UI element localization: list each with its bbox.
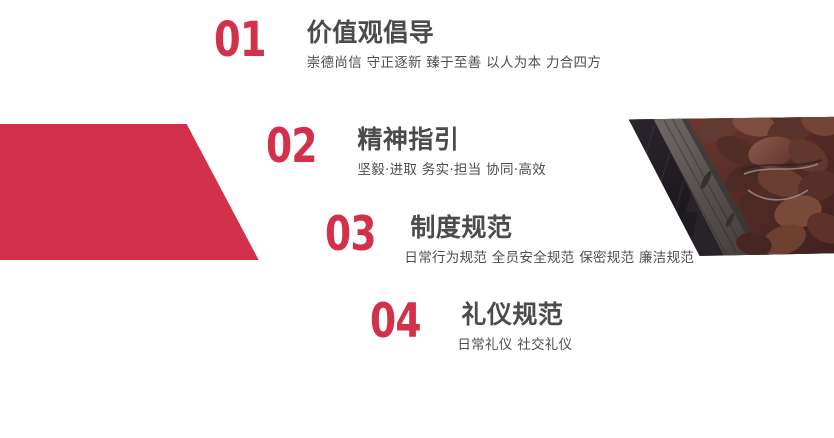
- block-text-2: 精神指引 坚毅·进取 务实·担当 协同·高效: [357, 125, 546, 178]
- block-subtitle-4: 日常礼仪 社交礼仪: [457, 337, 572, 353]
- block-title-3: 制度规范: [410, 214, 694, 241]
- content-block-3: 03 制度规范 日常行为规范 全员安全规范 保密规范 廉洁规范: [325, 213, 694, 266]
- block-text-3: 制度规范 日常行为规范 全员安全规范 保密规范 廉洁规范: [410, 213, 694, 266]
- content-block-4: 04 礼仪规范 日常礼仪 社交礼仪: [370, 300, 572, 353]
- red-trapezoid-shape: [0, 124, 260, 260]
- slide-canvas: 01 价值观倡导 崇德尚信 守正逐新 臻于至善 以人为本 力合四方 02 精神指…: [0, 0, 834, 438]
- block-text-1: 价值观倡导 崇德尚信 守正逐新 臻于至善 以人为本 力合四方: [307, 18, 601, 71]
- block-title-2: 精神指引: [357, 126, 546, 153]
- block-number-02: 02: [266, 125, 317, 168]
- block-subtitle-3: 日常行为规范 全员安全规范 保密规范 廉洁规范: [404, 250, 694, 266]
- block-number-03: 03: [325, 213, 376, 256]
- block-subtitle-1: 崇德尚信 守正逐新 臻于至善 以人为本 力合四方: [307, 55, 601, 71]
- content-block-1: 01 价值观倡导 崇德尚信 守正逐新 臻于至善 以人为本 力合四方: [214, 18, 601, 71]
- block-title-1: 价值观倡导: [307, 19, 601, 46]
- block-title-4: 礼仪规范: [461, 301, 572, 328]
- block-number-04: 04: [370, 300, 421, 343]
- block-subtitle-2: 坚毅·进取 务实·担当 协同·高效: [357, 162, 546, 178]
- content-block-2: 02 精神指引 坚毅·进取 务实·担当 协同·高效: [266, 125, 546, 178]
- block-number-01: 01: [214, 18, 266, 62]
- block-text-4: 礼仪规范 日常礼仪 社交礼仪: [461, 300, 572, 353]
